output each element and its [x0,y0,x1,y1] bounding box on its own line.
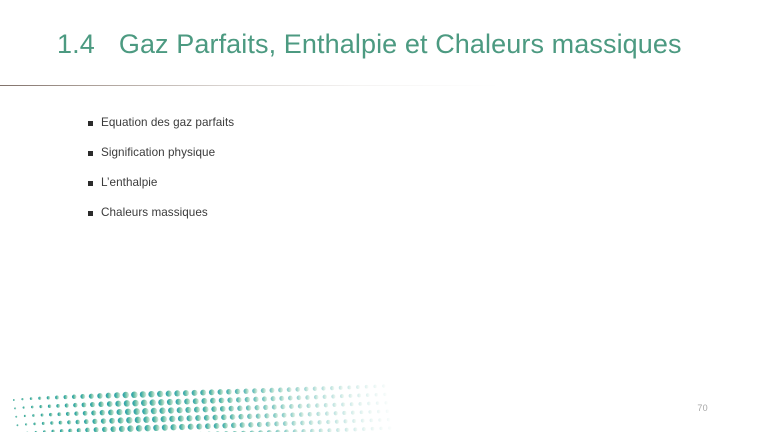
list-item: L’enthalpie [88,174,508,204]
square-bullet-icon [88,151,93,156]
square-bullet-icon [88,121,93,126]
page-number: 70 [697,403,708,413]
list-item: Chaleurs massiques [88,204,508,234]
square-bullet-icon [88,181,93,186]
slide-title-number: 1.4 [57,29,95,60]
slide-title-text: Gaz Parfaits, Enthalpie et Chaleurs mass… [119,29,682,60]
list-item-label: Equation des gaz parfaits [101,114,234,131]
list-item-label: Chaleurs massiques [101,204,208,221]
halftone-dot-pattern-icon [0,370,400,432]
presentation-slide: 1.4 Gaz Parfaits, Enthalpie et Chaleurs … [0,0,768,432]
square-bullet-icon [88,211,93,216]
title-divider [0,85,500,86]
halftone-dot-pattern-decoration [0,370,400,432]
bullet-list: Equation des gaz parfaits Signification … [88,114,508,234]
list-item-label: Signification physique [101,144,215,161]
list-item: Signification physique [88,144,508,174]
slide-title: 1.4 Gaz Parfaits, Enthalpie et Chaleurs … [57,29,682,60]
list-item: Equation des gaz parfaits [88,114,508,144]
list-item-label: L’enthalpie [101,174,157,191]
